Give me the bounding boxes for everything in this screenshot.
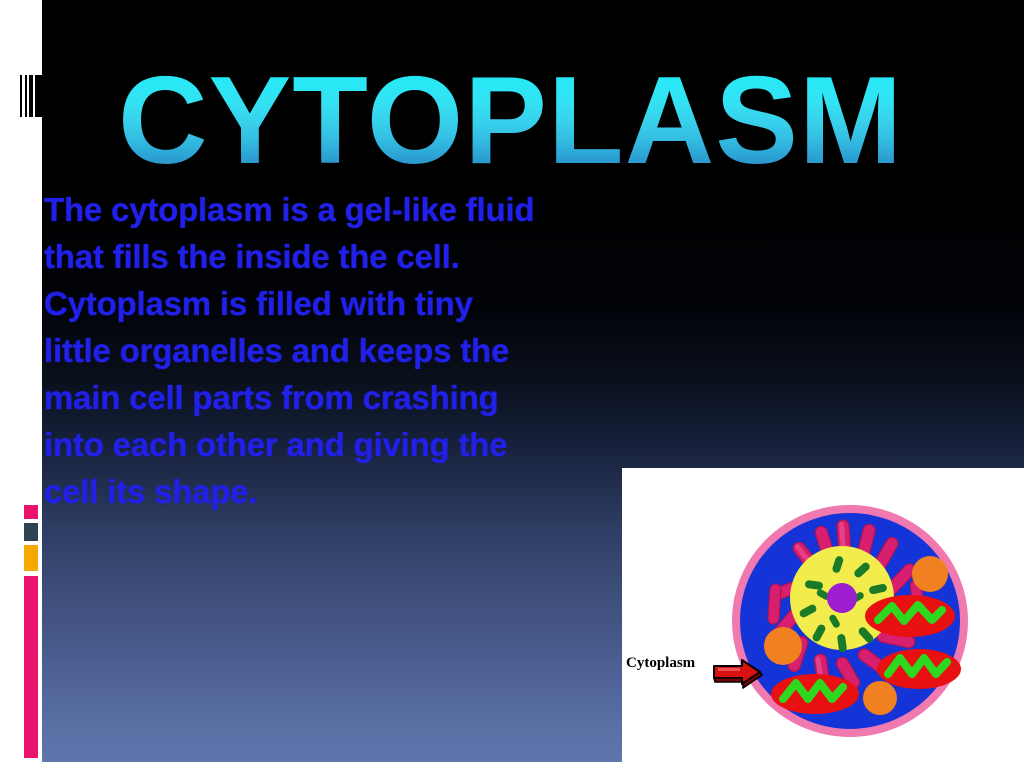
chip-slate-icon <box>24 523 38 541</box>
mitochondrion <box>771 674 859 714</box>
barcode-stripes-icon <box>20 75 46 117</box>
page-title: CYTOPLASM <box>118 62 928 180</box>
chip-amber-icon <box>24 545 38 571</box>
slide-bottom-margin <box>0 762 1024 768</box>
cell-diagram-panel: Cytoplasm <box>622 468 1024 762</box>
cytoplasm-figure-label: Cytoplasm <box>626 655 695 672</box>
mitochondrion <box>865 595 955 637</box>
decor-chip-stack <box>24 505 38 576</box>
vertical-magenta-bar <box>24 576 38 758</box>
vesicle <box>764 627 802 665</box>
mitochondrion <box>877 649 961 689</box>
vesicle <box>863 681 897 715</box>
chip-magenta-icon <box>24 505 38 519</box>
vesicle <box>912 556 948 592</box>
presentation-slide: CYTOPLASM CYTOPLASM The cytoplasm is a g… <box>0 0 1024 768</box>
animal-cell-diagram-icon <box>622 468 1024 762</box>
slide-body-text: The cytoplasm is a gel-like fluid that f… <box>44 186 764 515</box>
slide-title-container: CYTOPLASM <box>118 62 928 192</box>
